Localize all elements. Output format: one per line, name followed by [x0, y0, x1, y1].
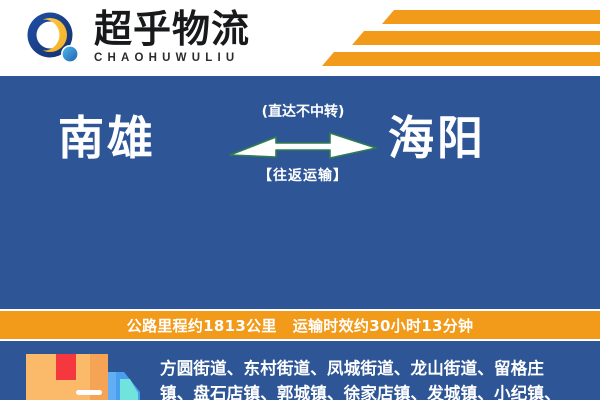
coverage-area-list: 方圆街道、东村街道、凤城街道、龙山街道、留格庄 镇、盘石店镇、郭城镇、徐家店镇、… [160, 356, 561, 400]
main-blue-panel: 南雄 (直达不中转) 【往返运输】 海阳 公路里程约1813公里 运输时效约30… [0, 76, 600, 400]
delivery-truck-icon [18, 348, 148, 400]
route-direct-note: (直达不中转) [228, 102, 378, 122]
brand-header: 超乎物流 CHAOHUWULIU [0, 0, 600, 76]
brand-wordmark: 超乎物流 CHAOHUWULIU [94, 8, 284, 64]
coverage-line-2: 镇、盘石店镇、郭城镇、徐家店镇、发城镇、小纪镇、 [160, 381, 561, 400]
route-middle-block: (直达不中转) 【往返运输】 [228, 102, 378, 186]
double-headed-arrow-icon [228, 129, 378, 161]
brand-name-cn: 超乎物流 [94, 8, 284, 50]
route-hero: 南雄 (直达不中转) 【往返运输】 海阳 [0, 76, 600, 231]
stripe-2 [352, 31, 600, 45]
header-stripes-decoration [280, 8, 600, 70]
stripe-3 [322, 52, 600, 66]
route-duration: 运输时效约30小时13分钟 [293, 315, 474, 336]
poster-canvas: 超乎物流 CHAOHUWULIU 南雄 (直达不中转) 【往返运输】 海阳 [0, 0, 600, 400]
brand-name-en: CHAOHUWULIU [94, 52, 284, 64]
origin-city: 南雄 [58, 110, 156, 166]
circle-crescent-logo-icon [24, 10, 84, 68]
route-distance: 公路里程约1813公里 [127, 315, 277, 336]
route-transport-mode: 【往返运输】 [228, 166, 378, 186]
destination-city: 海阳 [388, 110, 486, 166]
coverage-line-1: 方圆街道、东村街道、凤城街道、龙山街道、留格庄 [160, 356, 561, 381]
route-info-bar: 公路里程约1813公里 运输时效约30小时13分钟 [0, 309, 600, 341]
stripe-1 [382, 10, 600, 24]
coverage-area-block: 方圆街道、东村街道、凤城街道、龙山街道、留格庄 镇、盘石店镇、郭城镇、徐家店镇、… [0, 341, 600, 400]
